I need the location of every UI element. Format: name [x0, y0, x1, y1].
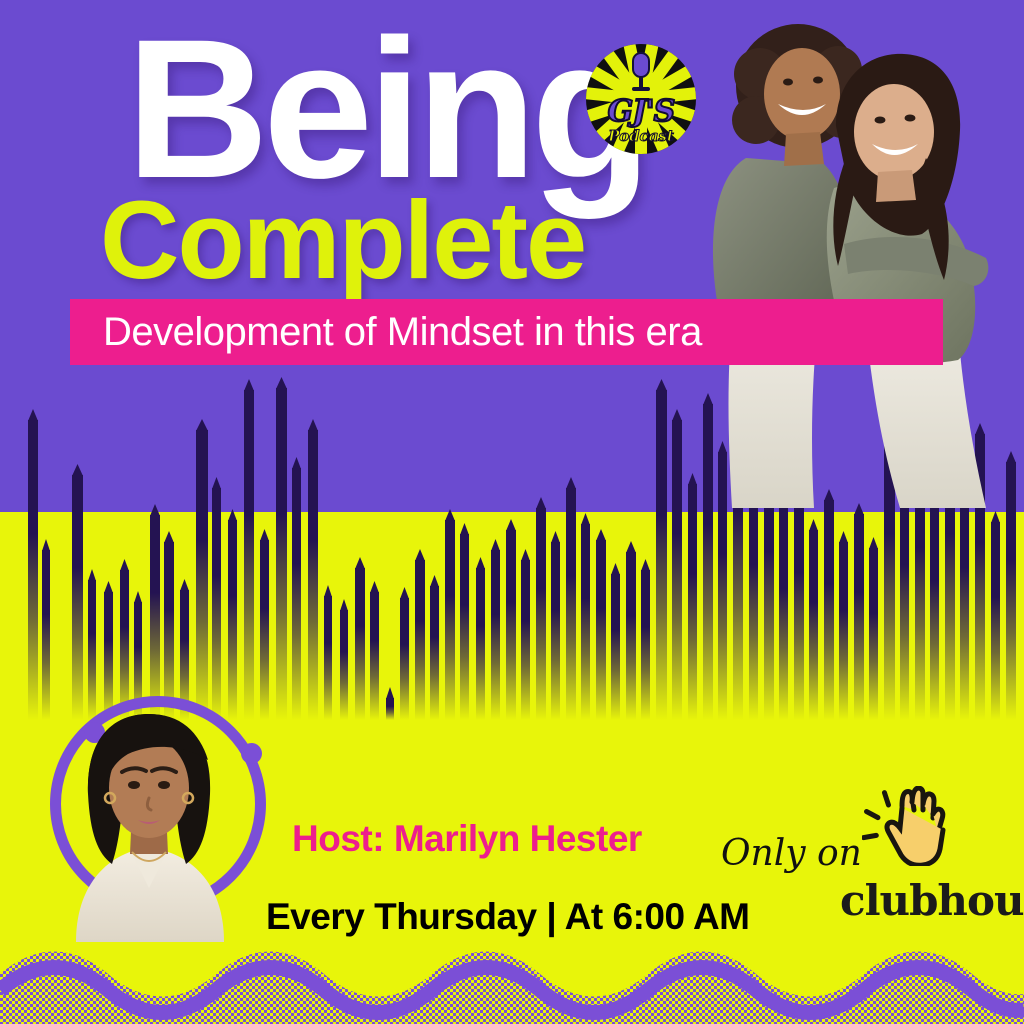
wave-bar	[476, 568, 485, 720]
wave-bar	[656, 390, 667, 720]
wave-bar	[611, 574, 620, 720]
wave-bar	[869, 548, 878, 720]
wave-bar	[824, 500, 834, 720]
wave-bar	[430, 586, 439, 720]
only-on-label: Only on	[721, 833, 862, 874]
wave-bar	[292, 468, 301, 720]
bottom-wave-decoration	[0, 938, 1024, 1024]
page-subtitle-word: Complete	[100, 186, 585, 296]
wave-bar	[355, 568, 365, 720]
wave-bar	[308, 430, 318, 720]
wave-bar	[260, 540, 269, 720]
microphone-icon	[628, 52, 654, 94]
wave-bar	[779, 508, 788, 720]
wave-bar	[854, 514, 864, 720]
wave-bar	[506, 530, 516, 720]
logo-name: GJ'S	[586, 94, 696, 129]
wave-bar	[276, 388, 287, 720]
wave-bar	[566, 488, 576, 720]
wave-bar	[991, 522, 1000, 720]
avatar	[58, 702, 240, 942]
wave-bar	[491, 550, 500, 720]
wave-bar	[370, 592, 379, 720]
wave-bar	[641, 570, 650, 720]
wave-bar	[794, 482, 804, 720]
subtitle-band: Development of Mindset in this era	[70, 299, 943, 365]
wave-bar	[445, 520, 455, 720]
wave-bar	[72, 475, 83, 720]
podcast-logo[interactable]: GJ'S Podcast	[586, 44, 696, 154]
subtitle-text: Development of Mindset in this era	[70, 310, 702, 355]
wave-bar	[536, 508, 546, 720]
wave-bar	[521, 560, 530, 720]
host-avatar-group	[32, 690, 260, 942]
wave-bar	[324, 596, 332, 720]
schedule-text: Every Thursday | At 6:00 AM	[266, 896, 750, 938]
wave-bar	[930, 496, 939, 720]
waving-hand-icon	[862, 786, 946, 866]
wave-bar	[400, 598, 409, 720]
wave-bar	[581, 524, 590, 720]
wave-bar	[809, 530, 818, 720]
host-name: Host: Marilyn Hester	[292, 818, 642, 860]
wave-bar	[196, 430, 208, 720]
wave-bar	[672, 420, 682, 720]
wave-bar	[551, 542, 560, 720]
wave-bar	[212, 488, 221, 720]
wave-bar	[340, 610, 348, 720]
wave-bar	[28, 420, 38, 720]
wave-bar	[244, 390, 254, 720]
wave-bar	[415, 560, 425, 720]
wave-bar	[839, 542, 848, 720]
platform-name: clubhouse	[840, 876, 1024, 925]
wave-bar	[688, 484, 697, 720]
wave-bar	[596, 540, 606, 720]
wave-bar	[386, 698, 394, 720]
logo-tagline: Podcast	[586, 127, 696, 145]
guests-photo	[686, 8, 1024, 508]
wave-bar	[960, 474, 969, 720]
wave-bar	[460, 534, 469, 720]
podcast-poster: Being Complete GJ'S Podcast Development …	[0, 0, 1024, 1024]
decorative-dot	[241, 743, 262, 764]
wave-bar	[626, 552, 636, 720]
